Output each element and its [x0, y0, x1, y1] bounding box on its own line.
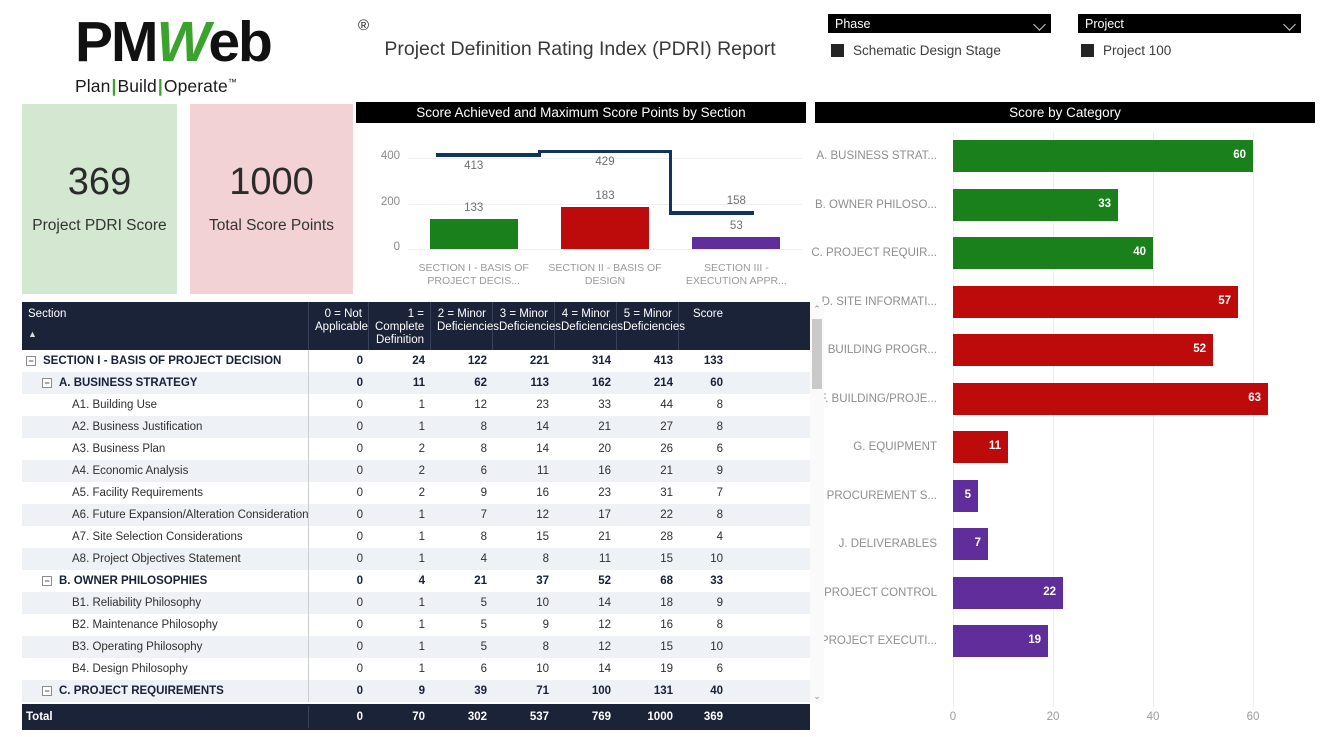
- table-row-label: B1. Reliability Philosophy: [72, 592, 201, 614]
- table-cell-value: 15: [493, 526, 555, 548]
- x-axis-tick-label: 0: [938, 711, 968, 723]
- table-cell-value: 5: [431, 614, 493, 636]
- table-cell-value: 8: [493, 548, 555, 570]
- category-axis-label: G. EQUIPMENT: [815, 423, 943, 471]
- table-cell-section[interactable]: B3. Operating Philosophy: [22, 636, 309, 658]
- x-axis-tick-label: 60: [1238, 711, 1268, 723]
- table-cell-value: 4: [679, 526, 729, 548]
- table-cell-value: 62: [431, 372, 493, 394]
- column-header-line2: Deficiencies: [561, 321, 610, 334]
- table-cell-section[interactable]: A4. Economic Analysis: [22, 460, 309, 482]
- table-cell-value: 10: [493, 658, 555, 680]
- slicer-project[interactable]: Project Project 100: [1078, 14, 1301, 58]
- table-row-label: B4. Design Philosophy: [72, 658, 188, 680]
- bar-value-label: 22: [1043, 586, 1056, 598]
- table-cell-value: 7: [431, 504, 493, 526]
- slicer-project-item[interactable]: Project 100: [1078, 43, 1301, 58]
- table-row-label: A8. Project Objectives Statement: [72, 548, 241, 570]
- table-cell-value: 37: [493, 570, 555, 592]
- table-cell-section[interactable]: −B. OWNER PHILOSOPHIES: [22, 570, 309, 592]
- logo-wordmark: PMWeb®: [75, 14, 365, 71]
- logo-eb-text: eb: [208, 10, 271, 74]
- table-cell-value: 14: [493, 438, 555, 460]
- table-cell-value: 4: [431, 548, 493, 570]
- column-header-line1: 1 = Complete: [375, 308, 424, 334]
- table-cell-section[interactable]: −SECTION I - BASIS OF PROJECT DECISION: [22, 350, 309, 372]
- x-axis-category-label: SECTION III - EXECUTION APPR...: [675, 262, 798, 288]
- collapse-expander-icon[interactable]: −: [42, 576, 52, 586]
- table-row-label: A. BUSINESS STRATEGY: [59, 372, 197, 394]
- slicer-project-title: Project: [1085, 17, 1124, 31]
- table-cell-value: 14: [493, 416, 555, 438]
- column-header-line1: 4 = Minor: [561, 308, 610, 321]
- table-cell-value: 133: [679, 350, 729, 372]
- table-cell-value: 14: [555, 592, 617, 614]
- table-cell-value: 6: [679, 658, 729, 680]
- table-cell-value: 7: [679, 482, 729, 504]
- table-cell-section[interactable]: −A. BUSINESS STRATEGY: [22, 372, 309, 394]
- total-row-value: 1000: [617, 706, 679, 728]
- table-cell-section[interactable]: A2. Business Justification: [22, 416, 309, 438]
- table-cell-value: 0: [309, 680, 369, 702]
- table-column-header[interactable]: Section▲: [22, 302, 309, 350]
- table-cell-value: 4: [369, 570, 431, 592]
- table-cell-value: 131: [617, 680, 679, 702]
- table-cell-value: 1: [369, 614, 431, 636]
- slicer-project-value: Project 100: [1103, 43, 1171, 58]
- table-cell-value: 122: [431, 350, 493, 372]
- table-cell-value: 0: [309, 350, 369, 372]
- table-cell-value: 31: [617, 482, 679, 504]
- category-bar-row[interactable]: E. BUILDING PROGR...52: [815, 326, 1315, 374]
- table-cell-value: 8: [431, 526, 493, 548]
- column-header-line1: 3 = Minor: [499, 308, 548, 321]
- table-row-label: B. OWNER PHILOSOPHIES: [59, 570, 207, 592]
- table-cell-value: 22: [617, 504, 679, 526]
- combo-bar[interactable]: [561, 207, 649, 249]
- category-axis-label: F. BUILDING/PROJE...: [815, 375, 943, 423]
- table-cell-value: 10: [679, 548, 729, 570]
- total-row-value: 369: [679, 706, 729, 728]
- tagline-plan: Plan: [75, 76, 110, 96]
- table-cell-value: 0: [309, 504, 369, 526]
- category-axis-label: A. BUSINESS STRAT...: [815, 132, 943, 180]
- table-cell-value: 17: [555, 504, 617, 526]
- table-cell-value: 60: [679, 372, 729, 394]
- table-row[interactable]: −A. BUSINESS STRATEGY0116211316221460: [22, 372, 810, 394]
- page-title: Project Definition Rating Index (PDRI) R…: [340, 38, 820, 61]
- column-header-line2: Applicable: [315, 321, 362, 334]
- table-cell-section[interactable]: A3. Business Plan: [22, 438, 309, 460]
- table-cell-value: 1: [369, 658, 431, 680]
- table-cell-value: 15: [617, 636, 679, 658]
- table-cell-value: 26: [617, 438, 679, 460]
- combo-bar[interactable]: [430, 219, 518, 249]
- table-cell-value: 40: [679, 680, 729, 702]
- tagline-build: Build: [117, 76, 156, 96]
- kpi-label: Project PDRI Score: [32, 217, 166, 235]
- table-row[interactable]: B2. Maintenance Philosophy015912168: [22, 614, 810, 636]
- table-cell-value: 214: [617, 372, 679, 394]
- bar-value-label: 5: [965, 489, 971, 501]
- table-column-header[interactable]: Score: [679, 302, 729, 350]
- column-header-line1: 2 = Minor: [437, 308, 486, 321]
- table-total-row: Total0703025377691000369: [22, 704, 810, 730]
- table-cell-value: 100: [555, 680, 617, 702]
- category-axis-label: H. PROCUREMENT S...: [815, 472, 943, 520]
- category-bar-row[interactable]: G. EQUIPMENT11: [815, 423, 1315, 471]
- table-column-header[interactable]: 2 = MinorDeficiencies: [431, 302, 493, 350]
- total-row-value: 537: [493, 706, 555, 728]
- table-row[interactable]: A5. Facility Requirements0291623317: [22, 482, 810, 504]
- table-cell-value: 19: [617, 658, 679, 680]
- table-row-label: A4. Economic Analysis: [72, 460, 188, 482]
- table-row[interactable]: A3. Business Plan0281420266: [22, 438, 810, 460]
- table-row-label: A2. Business Justification: [72, 416, 202, 438]
- table-cell-value: 16: [555, 460, 617, 482]
- table-row-label: A3. Business Plan: [72, 438, 165, 460]
- table-cell-value: 23: [493, 394, 555, 416]
- total-row-label: Total: [22, 706, 309, 728]
- bar-value-label: 183: [565, 190, 645, 202]
- sort-ascending-icon[interactable]: ▲: [28, 328, 37, 341]
- category-bar-row[interactable]: L. PROJECT EXECUTI...19: [815, 617, 1315, 665]
- table-cell-value: 1: [369, 636, 431, 658]
- bar-value-label: 33: [1098, 198, 1111, 210]
- line-segment: [436, 153, 539, 157]
- table-row[interactable]: −C. PROJECT REQUIREMENTS09397110013140: [22, 680, 810, 702]
- table-row[interactable]: B3. Operating Philosophy0158121510: [22, 636, 810, 658]
- table-row[interactable]: −B. OWNER PHILOSOPHIES042137526833: [22, 570, 810, 592]
- table-cell-value: 1: [369, 548, 431, 570]
- slicer-phase-value: Schematic Design Stage: [853, 43, 1001, 58]
- checkbox-icon[interactable]: [831, 44, 844, 57]
- trademark-icon: ™: [228, 77, 237, 87]
- column-header-line1: Section: [28, 308, 302, 321]
- table-cell-value: 0: [309, 658, 369, 680]
- category-bar[interactable]: 19: [953, 625, 1048, 657]
- line-riser: [669, 150, 673, 215]
- category-bar[interactable]: 52: [953, 334, 1213, 366]
- table-scrollbar[interactable]: ⌃ ⌄: [810, 302, 824, 703]
- column-header-line2: Definition: [375, 334, 424, 347]
- table-cell-section[interactable]: −C. PROJECT REQUIREMENTS: [22, 680, 309, 702]
- category-bar[interactable]: 5: [953, 480, 978, 512]
- category-bar-row[interactable]: D. SITE INFORMATI...57: [815, 278, 1315, 326]
- category-chart-title: Score by Category: [815, 102, 1315, 123]
- table-cell-value: 5: [431, 636, 493, 658]
- table-row-label: A5. Facility Requirements: [72, 482, 203, 504]
- table-cell-value: 0: [309, 548, 369, 570]
- category-bar[interactable]: 22: [953, 577, 1063, 609]
- table-cell-value: 21: [617, 460, 679, 482]
- table-row[interactable]: A6. Future Expansion/Alteration Consider…: [22, 504, 810, 526]
- category-axis-label: D. SITE INFORMATI...: [815, 278, 943, 326]
- table-row-label: B2. Maintenance Philosophy: [72, 614, 218, 636]
- table-cell-value: 1: [369, 416, 431, 438]
- combo-chart[interactable]: 0200400133413SECTION I - BASIS OF PROJEC…: [356, 124, 806, 296]
- table-cell-value: 9: [369, 680, 431, 702]
- table-cell-value: 8: [431, 416, 493, 438]
- table-cell-value: 11: [555, 548, 617, 570]
- category-bar[interactable]: 57: [953, 286, 1238, 318]
- category-bar-row[interactable]: B. OWNER PHILOSO...33: [815, 181, 1315, 229]
- category-axis-label: C. PROJECT REQUIR...: [815, 229, 943, 277]
- table-cell-section[interactable]: A8. Project Objectives Statement: [22, 548, 309, 570]
- table-cell-value: 68: [617, 570, 679, 592]
- table-cell-value: 15: [617, 548, 679, 570]
- table-row[interactable]: A1. Building Use01122333448: [22, 394, 810, 416]
- table-cell-value: 9: [679, 592, 729, 614]
- table-cell-value: 1: [369, 504, 431, 526]
- table-cell-value: 8: [493, 636, 555, 658]
- table-row[interactable]: B1. Reliability Philosophy0151014189: [22, 592, 810, 614]
- y-axis-tick-label: 200: [356, 196, 400, 208]
- table-cell-value: 8: [679, 614, 729, 636]
- table-cell-value: 0: [309, 570, 369, 592]
- registered-trademark-icon: ®: [358, 18, 367, 33]
- bar-value-label: 11: [989, 440, 1001, 452]
- table-cell-value: 8: [679, 394, 729, 416]
- table-row[interactable]: A4. Economic Analysis0261116219: [22, 460, 810, 482]
- table-cell-value: 28: [617, 526, 679, 548]
- gridline: [408, 249, 802, 250]
- slicer-project-header[interactable]: Project: [1078, 14, 1301, 33]
- table-cell-value: 39: [431, 680, 493, 702]
- tagline-separator-1: |: [111, 76, 116, 96]
- x-axis-tick-label: 20: [1038, 711, 1068, 723]
- column-header-line2: Deficiencies: [499, 321, 548, 334]
- table-cell-value: 12: [431, 394, 493, 416]
- table-cell-value: 0: [309, 416, 369, 438]
- table-cell-value: 1: [369, 526, 431, 548]
- category-bar[interactable]: 60: [953, 140, 1253, 172]
- table-body[interactable]: −SECTION I - BASIS OF PROJECT DECISION02…: [22, 350, 810, 703]
- category-axis-label: E. BUILDING PROGR...: [815, 326, 943, 374]
- pmweb-logo: PMWeb® Plan|Build|Operate™: [75, 14, 365, 94]
- kpi-card-project-pdri-score[interactable]: 369 Project PDRI Score: [22, 104, 177, 294]
- category-axis-label: J. DELIVERABLES: [815, 520, 943, 568]
- category-bar[interactable]: 11: [953, 431, 1008, 463]
- table-cell-section[interactable]: A7. Site Selection Considerations: [22, 526, 309, 548]
- table-cell-section[interactable]: B1. Reliability Philosophy: [22, 592, 309, 614]
- table-cell-value: 14: [555, 658, 617, 680]
- combo-bar[interactable]: [692, 237, 780, 249]
- table-cell-value: 9: [431, 482, 493, 504]
- table-cell-value: 0: [309, 614, 369, 636]
- table-cell-value: 0: [309, 636, 369, 658]
- collapse-expander-icon[interactable]: −: [42, 378, 52, 388]
- table-cell-value: 0: [309, 372, 369, 394]
- category-axis-label: K. PROJECT CONTROL: [815, 569, 943, 617]
- table-cell-value: 21: [431, 570, 493, 592]
- table-cell-value: 44: [617, 394, 679, 416]
- table-cell-value: 0: [309, 526, 369, 548]
- table-cell-value: 52: [555, 570, 617, 592]
- table-cell-value: 71: [493, 680, 555, 702]
- y-axis-tick-label: 0: [356, 241, 400, 253]
- table-cell-value: 0: [309, 592, 369, 614]
- chevron-down-icon[interactable]: [1033, 18, 1046, 31]
- table-cell-value: 21: [555, 526, 617, 548]
- table-cell-value: 10: [679, 636, 729, 658]
- slicer-phase-item[interactable]: Schematic Design Stage: [828, 43, 1051, 58]
- x-axis-category-label: SECTION I - BASIS OF PROJECT DECIS...: [412, 262, 535, 288]
- table-column-header[interactable]: 3 = MinorDeficiencies: [493, 302, 555, 350]
- slicer-phase[interactable]: Phase Schematic Design Stage: [828, 14, 1051, 58]
- table-cell-value: 24: [369, 350, 431, 372]
- category-bar-row[interactable]: C. PROJECT REQUIR...40: [815, 229, 1315, 277]
- table-cell-section[interactable]: B2. Maintenance Philosophy: [22, 614, 309, 636]
- scrollbar-thumb[interactable]: [812, 319, 822, 389]
- table-cell-value: 12: [555, 614, 617, 636]
- total-row-value: 0: [309, 706, 369, 728]
- scroll-up-icon[interactable]: ⌃: [810, 302, 824, 316]
- table-cell-value: 11: [369, 372, 431, 394]
- table-row[interactable]: −SECTION I - BASIS OF PROJECT DECISION02…: [22, 350, 810, 372]
- table-cell-value: 113: [493, 372, 555, 394]
- table-cell-value: 8: [679, 504, 729, 526]
- table-header-row[interactable]: Section▲0 = NotApplicable1 = CompleteDef…: [22, 302, 810, 350]
- table-row[interactable]: A8. Project Objectives Statement01481115…: [22, 548, 810, 570]
- tagline-separator-2: |: [158, 76, 163, 96]
- table-cell-section[interactable]: B4. Design Philosophy: [22, 658, 309, 680]
- category-axis-label: B. OWNER PHILOSO...: [815, 181, 943, 229]
- bar-value-label: 63: [1248, 392, 1261, 404]
- table-cell-section[interactable]: A6. Future Expansion/Alteration Consider…: [22, 504, 309, 526]
- table-cell-value: 6: [431, 460, 493, 482]
- table-cell-value: 10: [493, 592, 555, 614]
- table-cell-value: 23: [555, 482, 617, 504]
- line-segment: [539, 150, 670, 154]
- table-cell-value: 1: [369, 592, 431, 614]
- category-bar-row[interactable]: J. DELIVERABLES7: [815, 520, 1315, 568]
- table-cell-value: 2: [369, 438, 431, 460]
- table-row[interactable]: A7. Site Selection Considerations0181521…: [22, 526, 810, 548]
- category-bar-row[interactable]: A. BUSINESS STRAT...60: [815, 132, 1315, 180]
- table-cell-value: 413: [617, 350, 679, 372]
- total-row-value: 769: [555, 706, 617, 728]
- checkbox-icon[interactable]: [1081, 44, 1094, 57]
- table-cell-value: 0: [309, 394, 369, 416]
- table-cell-value: 2: [369, 482, 431, 504]
- category-axis-label: L. PROJECT EXECUTI...: [815, 617, 943, 665]
- table-column-header[interactable]: 0 = NotApplicable: [309, 302, 369, 350]
- table-column-header[interactable]: 1 = CompleteDefinition: [369, 302, 431, 350]
- column-header-line2: Deficiencies: [437, 321, 486, 334]
- table-cell-value: 8: [431, 438, 493, 460]
- category-bar-row[interactable]: K. PROJECT CONTROL22: [815, 569, 1315, 617]
- column-header-line1: Score: [685, 308, 723, 321]
- table-cell-section[interactable]: A1. Building Use: [22, 394, 309, 416]
- tagline-operate: Operate: [164, 76, 228, 96]
- table-cell-value: 9: [493, 614, 555, 636]
- table-cell-value: 162: [555, 372, 617, 394]
- bar-value-label: 53: [696, 220, 776, 232]
- slicer-phase-header[interactable]: Phase: [828, 14, 1051, 33]
- table-cell-value: 5: [431, 592, 493, 614]
- logo-pm-text: PM: [75, 10, 157, 74]
- table-row-label: SECTION I - BASIS OF PROJECT DECISION: [43, 350, 281, 372]
- category-bar-row[interactable]: F. BUILDING/PROJE...63: [815, 375, 1315, 423]
- category-bar[interactable]: 63: [953, 383, 1268, 415]
- table-cell-value: 11: [493, 460, 555, 482]
- x-axis-category-label: SECTION II - BASIS OF DESIGN: [543, 262, 666, 288]
- table-row-label: A1. Building Use: [72, 394, 157, 416]
- line-segment: [671, 211, 754, 215]
- table-cell-value: 18: [617, 592, 679, 614]
- chevron-down-icon[interactable]: [1283, 18, 1296, 31]
- table-cell-value: 0: [309, 460, 369, 482]
- logo-tagline: Plan|Build|Operate™: [75, 76, 365, 97]
- table-cell-value: 16: [617, 614, 679, 636]
- table-cell-value: 314: [555, 350, 617, 372]
- pdri-score-table[interactable]: Section▲0 = NotApplicable1 = CompleteDef…: [22, 302, 810, 730]
- table-row[interactable]: B4. Design Philosophy0161014196: [22, 658, 810, 680]
- table-column-header[interactable]: 5 = MinorDeficiencies: [617, 302, 679, 350]
- table-cell-value: 20: [555, 438, 617, 460]
- category-bar[interactable]: 7: [953, 528, 988, 560]
- line-value-label: 413: [434, 160, 514, 172]
- table-cell-value: 21: [555, 416, 617, 438]
- bar-value-label: 60: [1233, 149, 1246, 161]
- bar-value-label: 19: [1028, 634, 1041, 646]
- category-bar-chart[interactable]: 0204060A. BUSINESS STRAT...60B. OWNER PH…: [815, 124, 1315, 729]
- y-axis-tick-label: 400: [356, 150, 400, 162]
- kpi-label: Total Score Points: [209, 217, 334, 235]
- table-row-label: A7. Site Selection Considerations: [72, 526, 243, 548]
- table-cell-value: 33: [679, 570, 729, 592]
- table-cell-value: 0: [309, 482, 369, 504]
- line-value-label: 429: [565, 156, 645, 168]
- table-cell-section[interactable]: A5. Facility Requirements: [22, 482, 309, 504]
- table-row-label: B3. Operating Philosophy: [72, 636, 202, 658]
- category-bar[interactable]: 40: [953, 237, 1153, 269]
- table-cell-value: 9: [679, 460, 729, 482]
- bar-value-label: 52: [1193, 343, 1206, 355]
- table-cell-value: 12: [493, 504, 555, 526]
- column-header-line2: Deficiencies: [623, 321, 672, 334]
- kpi-value: 1000: [229, 163, 314, 201]
- table-cell-value: 2: [369, 460, 431, 482]
- kpi-card-total-score-points[interactable]: 1000 Total Score Points: [190, 104, 353, 294]
- scroll-down-icon[interactable]: ⌄: [810, 689, 824, 703]
- table-cell-value: 27: [617, 416, 679, 438]
- table-cell-value: 221: [493, 350, 555, 372]
- bar-value-label: 7: [975, 537, 981, 549]
- bar-value-label: 57: [1218, 295, 1231, 307]
- table-row[interactable]: A2. Business Justification0181421278: [22, 416, 810, 438]
- collapse-expander-icon[interactable]: −: [42, 686, 52, 696]
- total-row-value: 70: [369, 706, 431, 728]
- slicer-phase-title: Phase: [835, 17, 870, 31]
- table-row-label: A6. Future Expansion/Alteration Consider…: [72, 504, 309, 526]
- combo-chart-title: Score Achieved and Maximum Score Points …: [356, 102, 806, 123]
- table-cell-value: 1: [369, 394, 431, 416]
- table-cell-value: 16: [493, 482, 555, 504]
- category-bar-row[interactable]: H. PROCUREMENT S...5: [815, 472, 1315, 520]
- column-header-line1: 5 = Minor: [623, 308, 672, 321]
- table-cell-value: 33: [555, 394, 617, 416]
- table-column-header[interactable]: 4 = MinorDeficiencies: [555, 302, 617, 350]
- bar-value-label: 40: [1133, 246, 1146, 258]
- category-bar[interactable]: 33: [953, 189, 1118, 221]
- table-cell-value: 12: [555, 636, 617, 658]
- total-row-value: 302: [431, 706, 493, 728]
- x-axis-tick-label: 40: [1138, 711, 1168, 723]
- collapse-expander-icon[interactable]: −: [26, 356, 36, 366]
- kpi-value: 369: [68, 163, 131, 201]
